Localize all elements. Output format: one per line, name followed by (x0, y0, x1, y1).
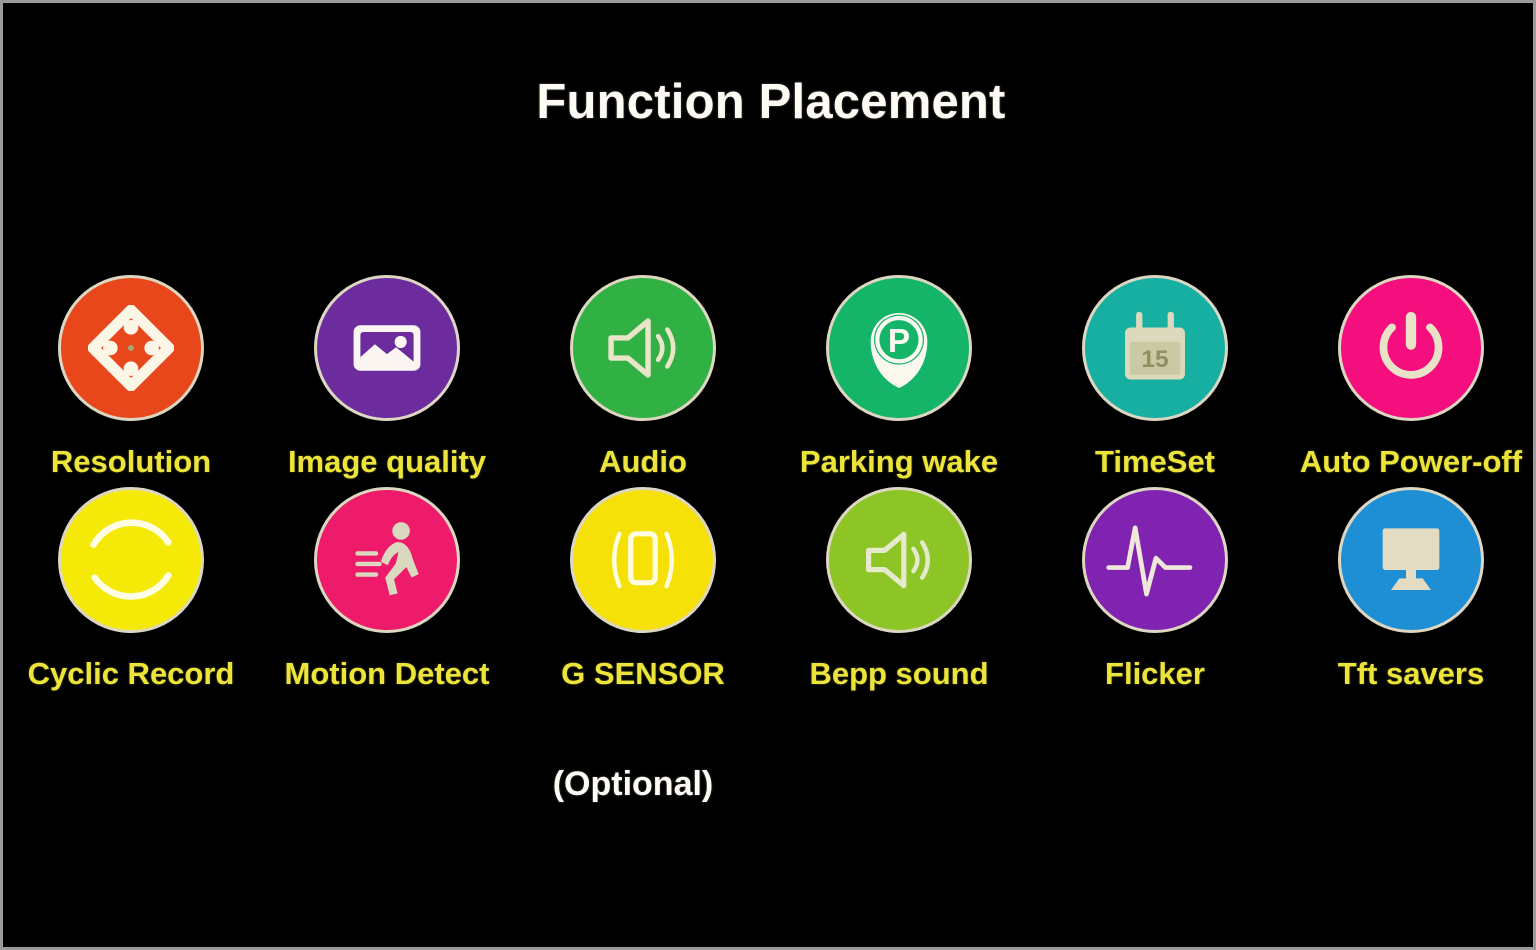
optional-note-text: (Optional) (553, 765, 714, 804)
flicker-circle[interactable] (1082, 487, 1228, 633)
running-person-icon (343, 516, 431, 604)
function-placement-screen: Function Placement (0, 0, 1536, 950)
function-tile-g-sensor[interactable]: G SENSOR (515, 487, 771, 691)
cyclic-record-circle[interactable] (58, 487, 204, 633)
function-tile-resolution[interactable]: Resolution (3, 275, 259, 479)
function-tile-timeset[interactable]: 15 TimeSet (1027, 275, 1283, 479)
parking-wake-circle[interactable]: P (826, 275, 972, 421)
function-tile-cyclic-record[interactable]: Cyclic Record (3, 487, 259, 691)
function-tile-flicker[interactable]: Flicker (1027, 487, 1283, 691)
film-reel-icon (88, 305, 174, 391)
function-label: Parking wake (800, 445, 998, 479)
g-sensor-circle[interactable] (570, 487, 716, 633)
svg-text:P: P (888, 323, 910, 360)
function-tile-motion-detect[interactable]: Motion Detect (259, 487, 515, 691)
bepp-sound-circle[interactable] (826, 487, 972, 633)
calendar-date-text: 15 (1141, 346, 1168, 373)
power-icon (1368, 305, 1454, 391)
function-label: Audio (599, 445, 687, 479)
function-tile-audio[interactable]: Audio (515, 275, 771, 479)
function-label: Tft savers (1338, 657, 1484, 691)
tft-savers-circle[interactable] (1338, 487, 1484, 633)
audio-circle[interactable] (570, 275, 716, 421)
speaker-icon (601, 306, 685, 390)
pulse-wave-icon (1103, 512, 1207, 608)
auto-power-off-circle[interactable] (1338, 275, 1484, 421)
function-label: Image quality (288, 445, 486, 479)
function-tile-auto-power-off[interactable]: Auto Power-off (1283, 275, 1536, 479)
function-tile-image-quality[interactable]: Image quality (259, 275, 515, 479)
function-label: Resolution (51, 445, 211, 479)
function-label: Bepp sound (809, 657, 988, 691)
function-row-1: Resolution Image quality (3, 275, 1536, 479)
function-label: Cyclic Record (28, 657, 235, 691)
function-row-2: Cyclic Record Motion Detect (3, 487, 1536, 691)
resolution-circle[interactable] (58, 275, 204, 421)
function-label: Flicker (1105, 657, 1205, 691)
monitor-icon (1369, 520, 1453, 600)
speaker-icon (859, 520, 939, 600)
optional-note: (Optional) (3, 765, 1536, 804)
function-label: Motion Detect (285, 657, 490, 691)
timeset-circle[interactable]: 15 (1082, 275, 1228, 421)
function-tile-bepp-sound[interactable]: Bepp sound (771, 487, 1027, 691)
photo-icon (349, 310, 425, 386)
function-label: G SENSOR (561, 657, 725, 691)
function-label: TimeSet (1095, 445, 1215, 479)
motion-detect-circle[interactable] (314, 487, 460, 633)
function-grid: Resolution Image quality (3, 275, 1536, 691)
device-shake-icon (595, 516, 691, 604)
parking-pin-icon: P (857, 303, 941, 393)
cyclic-arrows-icon (76, 505, 186, 615)
function-tile-tft-savers[interactable]: Tft savers (1283, 487, 1536, 691)
page-title: Function Placement (3, 77, 1536, 128)
function-label: Auto Power-off (1300, 445, 1522, 479)
function-tile-parking-wake[interactable]: P Parking wake (771, 275, 1027, 479)
calendar-icon: 15 (1115, 307, 1195, 389)
image-quality-circle[interactable] (314, 275, 460, 421)
